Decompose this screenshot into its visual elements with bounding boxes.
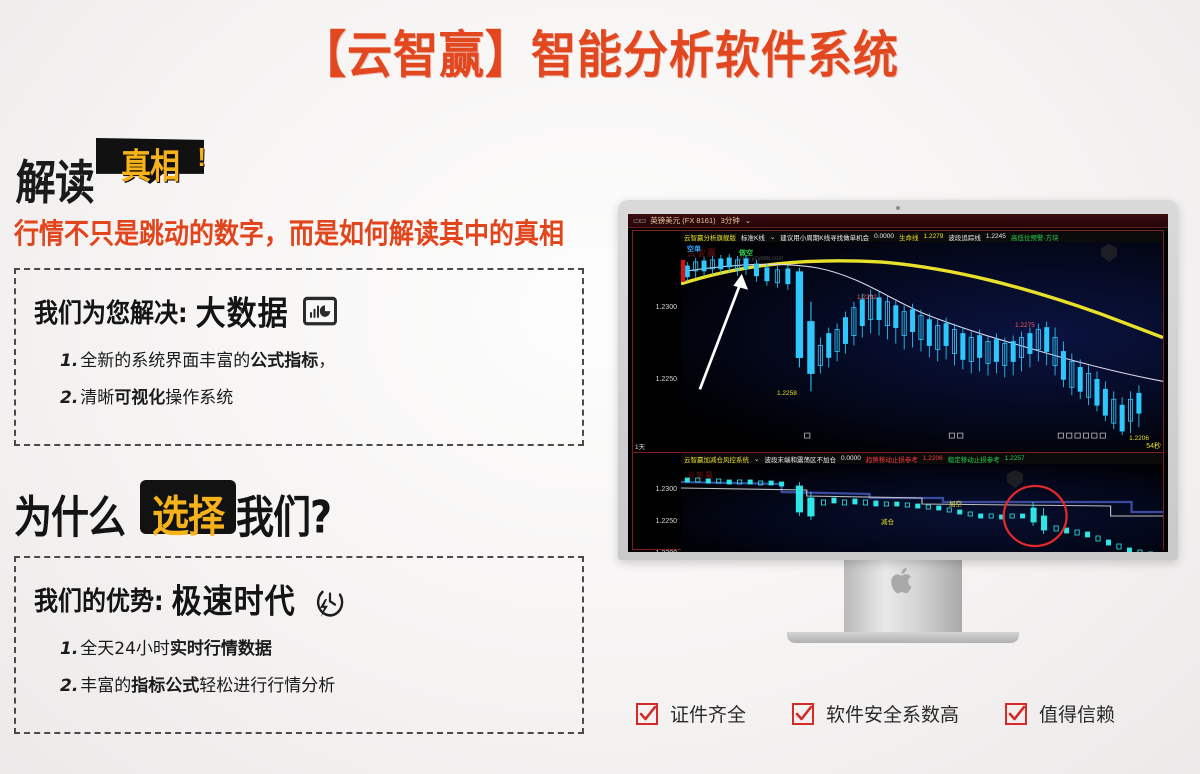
indicator-hint: 建议用小周期K线寻找做单机会 [780, 232, 869, 242]
box2-heading: 我们的优势: 极速时代 [34, 574, 566, 622]
legend-label-lifeline: 生命线 [899, 232, 919, 242]
axis-tick: 1.2250 [656, 518, 677, 525]
page-header: 【云智赢】智能分析软件系统 [0, 18, 1200, 83]
sub-indicator-name[interactable]: 云智赢加减仓风控系统 [684, 454, 749, 464]
legend-value-trend-stop: 1.2206 [923, 455, 943, 462]
add-short-annotation: 加空 [949, 498, 962, 508]
headline-jiedu-zhenxiang: 解读 真相 ! [10, 140, 610, 212]
main-plot-area[interactable]: 云智赢 www.yzy888.com [681, 242, 1163, 452]
legend-label-trackline: 波段追踪线 [948, 232, 981, 242]
bullet-text-emph: 可视化 [114, 388, 165, 408]
axis-tick: 1.2300 [656, 486, 677, 493]
indicator-name[interactable]: 云智赢分析旗舰版 [684, 232, 736, 242]
box1-bullet-list: 1.全新的系统界面丰富的公式指标， 2.清晰可视化操作系统 [34, 346, 566, 408]
list-item: 1.全天24小时实时行情数据 [60, 634, 566, 659]
trust-badge-label: 软件安全系数高 [826, 700, 959, 727]
imac-mockup: ▭▭ 英镑美元 (FX 8161) 3分钟 ⌄ 云智赢分析旗舰版 标准K线 ⌄ … [618, 200, 1188, 643]
day-tag: 1天 [635, 441, 645, 451]
headline2-part-c: 我们? [236, 482, 331, 546]
bullet-text-emph: 实时行情数据 [170, 639, 272, 659]
box1-heading: 我们为您解决: 大数据 [34, 286, 566, 334]
trust-badge-item: 证件齐全 [636, 700, 746, 727]
high-price-annotation-2: 1.2275 [1015, 322, 1035, 329]
sub-plot-area[interactable]: 云智赢 [681, 464, 1163, 552]
bullet-number: 1. [60, 351, 78, 371]
check-icon [792, 703, 814, 725]
trust-badge-label: 证件齐全 [670, 700, 746, 727]
kline-type-selector[interactable]: 标准K线 [741, 232, 765, 242]
headline-why-choose-us: 为什么 选择 我们? [12, 480, 610, 538]
monitor-bezel: ▭▭ 英镑美元 (FX 8161) 3分钟 ⌄ 云智赢分析旗舰版 标准K线 ⌄ … [618, 200, 1178, 560]
headline-plain-text: 解读 [15, 145, 95, 213]
sub-price-axis: 1.2300 1.2250 1.2200 [633, 464, 681, 552]
bullet-text-a: 丰富的 [80, 676, 131, 696]
bullet-text-emph: 指标公式 [131, 676, 199, 696]
fast-clock-icon [314, 584, 346, 619]
trust-badge-item: 值得信赖 [1005, 700, 1115, 727]
bullet-number: 2. [60, 388, 78, 408]
main-price-axis: 1.2300 1.2250 [633, 242, 681, 452]
series-trend-stop [681, 482, 1163, 512]
chart-container: 云智赢分析旗舰版 标准K线 ⌄ 建议用小周期K线寻找做单机会 0.0000 生命… [632, 230, 1164, 550]
box2-bullet-list: 1.全天24小时实时行情数据 2.丰富的指标公式轻松进行行情分析 [34, 634, 566, 696]
main-pane-legend: 云智赢分析旗舰版 标准K线 ⌄ 建议用小周期K线寻找做单机会 0.0000 生命… [681, 231, 1163, 242]
pointer-arrow [700, 280, 742, 389]
badge-text: 真相 [96, 137, 204, 189]
apple-logo-icon [890, 566, 916, 596]
indicator-value-zero: 0.0000 [874, 233, 894, 240]
reduce-position-annotation: 减仓 [881, 516, 894, 526]
hilo-alert-squares [805, 433, 1106, 438]
bullet-number: 2. [60, 676, 78, 696]
bullet-text-c: ， [318, 351, 335, 371]
bullet-text-a: 全新的系统界面丰富的 [80, 351, 250, 371]
headline2-part-a: 为什么 [14, 482, 125, 546]
trust-badge-item: 软件安全系数高 [792, 700, 959, 727]
candlestick-series [685, 254, 1141, 435]
chevron-down-icon[interactable]: ⌄ [754, 455, 759, 463]
risk-control-pane: 云智赢加减仓风控系统 ⌄ 波段末端和震荡区不加仓 0.0000 趋势移动止损参考… [633, 453, 1163, 552]
symbol-label: 英镑美元 (FX 8161) [650, 215, 715, 226]
bullet-text-emph: 公式指标 [250, 351, 318, 371]
legend-value-lifeline: 1.2279 [924, 233, 944, 240]
bullet-text-a: 全天24小时 [80, 639, 170, 659]
series-trackline [681, 264, 1163, 381]
badge-exclamation: ! [197, 142, 206, 173]
chevron-down-icon[interactable]: ⌄ [745, 216, 751, 225]
trading-application: ▭▭ 英镑美元 (FX 8161) 3分钟 ⌄ 云智赢分析旗舰版 标准K线 ⌄ … [628, 214, 1168, 552]
feature-box-bigdata: 我们为您解决: 大数据 1.全新的系统界面丰富的公式指标， 2.清晰可视化操作系… [14, 268, 584, 446]
subheadline: 行情不只是跳动的数字，而是如何解读其中的真相 [14, 212, 610, 252]
main-chart-svg [681, 242, 1163, 452]
list-item: 2.清晰可视化操作系统 [60, 383, 566, 408]
sub-indicator-value-zero: 0.0000 [841, 455, 861, 462]
bar-pie-chart-icon [303, 297, 337, 326]
legend-value-stable-stop: 1.2257 [1005, 455, 1025, 462]
legend-label-stable-stop: 稳定移动止损参考 [948, 454, 1000, 464]
chevron-down-icon[interactable]: ⌄ [770, 233, 775, 241]
timeframe-selector[interactable]: 3分钟 [721, 215, 740, 226]
left-content-column: 解读 真相 ! 行情不只是跳动的数字，而是如何解读其中的真相 我们为您解决: 大… [10, 140, 610, 734]
sub-chart-svg [681, 464, 1163, 552]
page-title: 【云智赢】智能分析软件系统 [301, 14, 899, 87]
monitor-screen: ▭▭ 英镑美元 (FX 8161) 3分钟 ⌄ 云智赢分析旗舰版 标准K线 ⌄ … [628, 214, 1168, 552]
window-handle-icon: ▭▭ [633, 216, 645, 225]
zhenxiang-badge: 真相 ! [96, 138, 204, 200]
axis-tick: 1.2300 [656, 304, 677, 311]
bullet-number: 1. [60, 639, 78, 659]
sub-pane-legend: 云智赢加减仓风控系统 ⌄ 波段末端和震荡区不加仓 0.0000 趋势移动止损参考… [681, 453, 1163, 464]
series-lifeline [681, 261, 1163, 338]
box1-heading-emphasis: 大数据 [196, 286, 289, 334]
trust-badges-row: 证件齐全 软件安全系数高 值得信赖 [636, 700, 1176, 727]
headline2-part-b: 选择 [140, 482, 236, 545]
check-icon [1005, 703, 1027, 725]
box1-heading-prefix: 我们为您解决: [34, 291, 188, 330]
axis-tick: 1.2200 [656, 550, 677, 552]
bar-countdown-timer: 54秒 [1146, 441, 1161, 451]
monitor-foot [787, 632, 1019, 643]
high-price-annotation-1: 1.2292 [857, 294, 877, 301]
list-item: 1.全新的系统界面丰富的公式指标， [60, 346, 566, 371]
legend-label-hilo-alert: 高低位预警-方块 [1011, 232, 1059, 242]
legend-value-trackline: 1.2245 [986, 233, 1006, 240]
feature-box-speed: 我们的优势: 极速时代 1.全天24小时实时行情数据 2.丰富的指标公式轻松进行… [14, 556, 584, 734]
box2-heading-prefix: 我们的优势: [34, 579, 164, 618]
list-item: 2.丰富的指标公式轻松进行行情分析 [60, 671, 566, 696]
legend-label-trend-stop: 趋势移动止损参考 [866, 454, 918, 464]
left-edge-marker [681, 260, 685, 282]
short-position-label: 空单 [687, 244, 701, 254]
main-chart-pane: 云智赢分析旗舰版 标准K线 ⌄ 建议用小周期K线寻找做单机会 0.0000 生命… [633, 231, 1163, 453]
check-icon [636, 703, 658, 725]
bullet-text-a: 清晰 [80, 388, 114, 408]
axis-tick: 1.2250 [656, 376, 677, 383]
bullet-text-c: 操作系统 [165, 388, 233, 408]
low-price-annotation: 1.2258 [777, 390, 797, 397]
sell-signal-label: 做空 [739, 248, 753, 258]
pointer-arrow-head [733, 274, 748, 290]
box2-heading-emphasis: 极速时代 [172, 574, 296, 622]
app-titlebar: ▭▭ 英镑美元 (FX 8161) 3分钟 ⌄ [628, 214, 1168, 228]
webcam-icon [896, 206, 900, 210]
trust-badge-label: 值得信赖 [1039, 700, 1115, 727]
sub-indicator-hint: 波段末端和震荡区不加仓 [764, 454, 836, 464]
bullet-text-c: 轻松进行行情分析 [199, 676, 335, 696]
